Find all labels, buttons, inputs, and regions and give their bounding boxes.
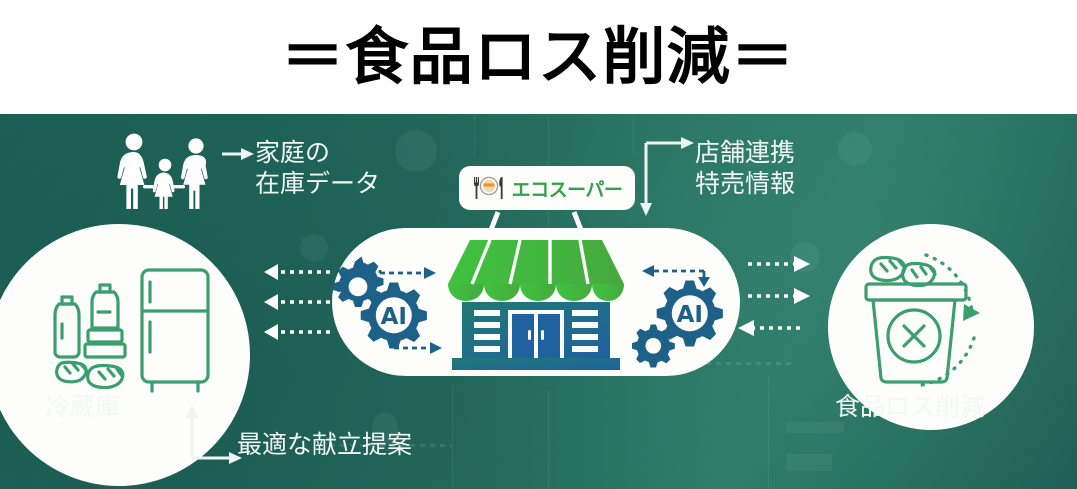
store-sign: エコスーパー (459, 166, 635, 210)
bg-grid-line (548, 390, 549, 489)
label-store-link: 店舗連携 特売情報 (695, 138, 795, 199)
bg-square (786, 454, 832, 471)
label-waste-reduction: 食品ロス削減 (835, 392, 985, 423)
bg-square (786, 422, 844, 433)
svg-text:AI: AI (381, 304, 407, 330)
bg-bubble (395, 130, 437, 172)
bg-grid-line (633, 114, 634, 154)
bg-grid-line (768, 376, 769, 489)
storefront-icon (432, 210, 640, 376)
store-sign-text: エコスーパー (512, 175, 623, 202)
family-group-icon (110, 133, 218, 213)
ai-gear-left: AI (336, 254, 454, 366)
bg-bubble (300, 234, 328, 262)
plate-fork-knife-icon (472, 175, 506, 201)
diagram-panel: エコスーパー (0, 114, 1077, 489)
arrow-family-to-home-data (222, 148, 254, 160)
page-title: ＝食品ロス削減＝ (281, 26, 795, 88)
label-menu-suggestion: 最適な献立提案 (237, 430, 412, 461)
arrow-store-to-promo (640, 137, 694, 216)
label-fridge: 冷蔵庫 (45, 392, 120, 423)
label-home-inventory: 家庭の 在庫データ (255, 138, 380, 199)
infographic-canvas: ＝食品ロス削減＝ (0, 0, 1077, 489)
bg-bubble (838, 132, 872, 166)
title-bar: ＝食品ロス削減＝ (0, 0, 1077, 114)
ai-gear-right: AI (636, 258, 748, 366)
refrigerator-icon (46, 264, 222, 396)
bg-bubble (790, 242, 820, 272)
svg-text:AI: AI (677, 302, 703, 328)
bg-grid-line (452, 382, 453, 489)
trash-bin-food-icon (848, 242, 1016, 404)
bg-grid-line (474, 114, 475, 158)
